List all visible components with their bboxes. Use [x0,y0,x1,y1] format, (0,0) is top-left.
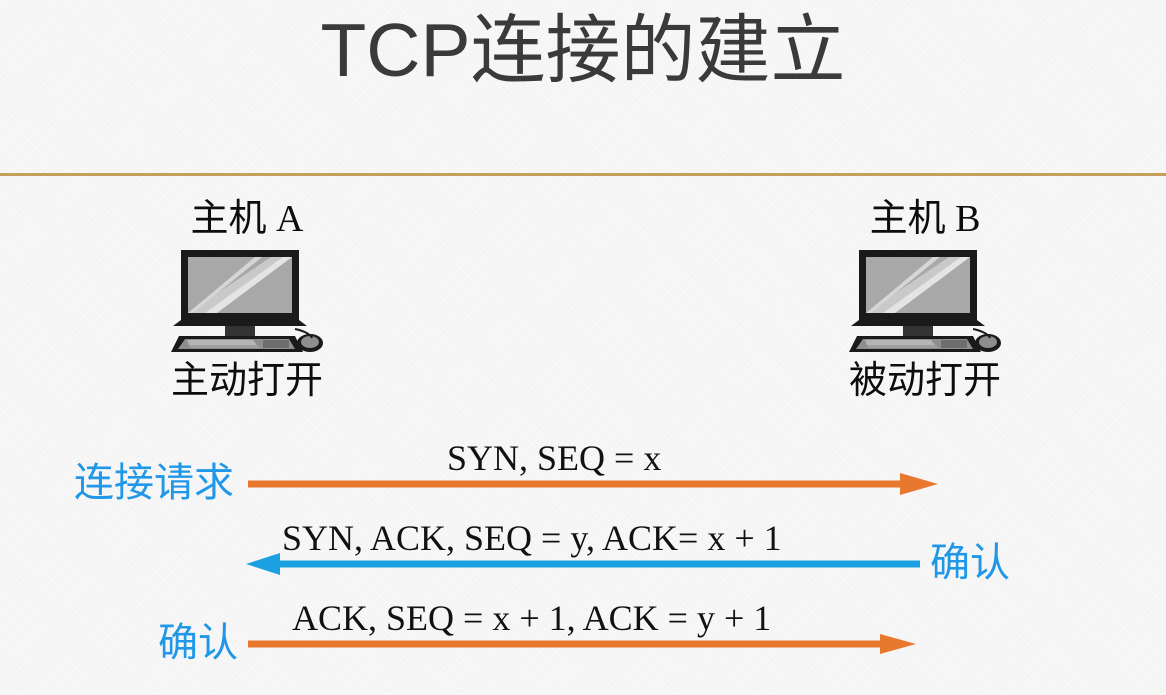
title-divider [0,173,1166,176]
host-b-group: 主机 B 被动打开 [775,200,1075,400]
slide-canvas: TCP连接的建立 主机 A [0,0,1166,695]
page-title: TCP连接的建立 [0,8,1166,92]
host-b-state: 被动打开 [775,362,1075,400]
arrow-right-icon [0,631,1166,661]
host-a-group: 主机 A 主动打开 [97,200,397,400]
host-b-label: 主机 B [775,200,1075,238]
host-a-state: 主动打开 [97,362,397,400]
host-a-label: 主机 A [97,200,397,238]
message-row-syn: 连接请求 SYN, SEQ = x [0,438,1166,510]
message-row-ack: 确认 ACK, SEQ = x + 1, ACK = y + 1 [0,598,1166,670]
arrow-left-icon [0,551,1166,581]
desktop-computer-icon [845,246,1005,356]
arrow-right-icon [0,471,1166,501]
desktop-computer-icon [167,246,327,356]
message-row-syn-ack: 确认 SYN, ACK, SEQ = y, ACK= x + 1 [0,518,1166,590]
